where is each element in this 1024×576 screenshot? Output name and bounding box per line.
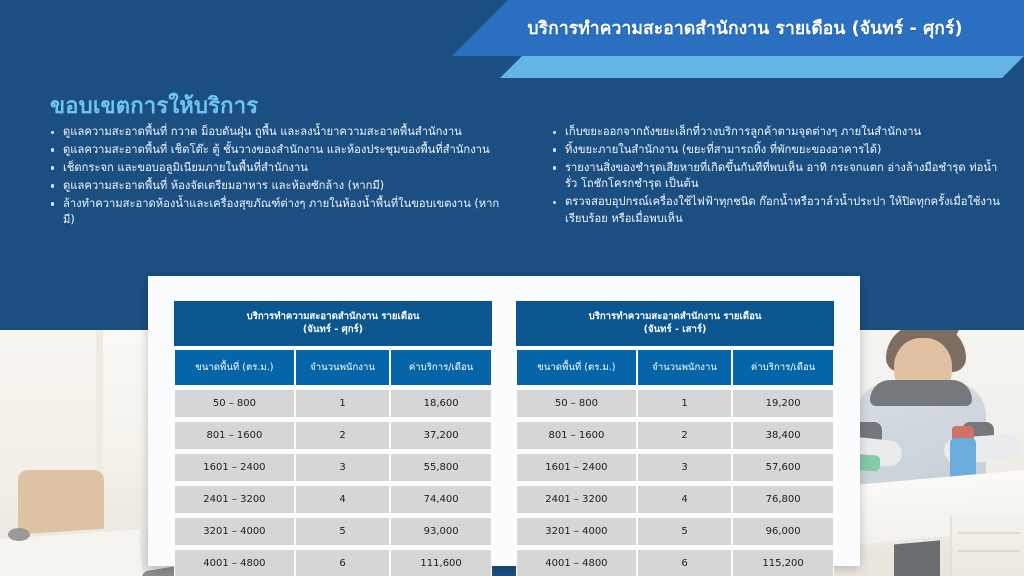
cell-area: 4001 – 4800: [174, 549, 295, 576]
banner-accent-bar: [500, 56, 1024, 78]
scope-list-left: ดูแลความสะอาดพื้นที่ กวาด ม็อบดันฝุ่น ถู…: [50, 124, 510, 230]
table-title-row: บริการทำความสะอาดสำนักงาน รายเดือน (จันท…: [174, 301, 492, 346]
table-row: 4001 – 4800 6 115,200: [516, 549, 834, 576]
cell-area: 1601 – 2400: [174, 453, 295, 482]
cell-price: 55,800: [390, 453, 492, 482]
table-title: บริการทำความสะอาดสำนักงาน รายเดือน (จันท…: [516, 301, 834, 346]
scope-list-left-items: ดูแลความสะอาดพื้นที่ กวาด ม็อบดันฝุ่น ถู…: [50, 124, 510, 229]
banner-shape: บริการทำความสะอาดสำนักงาน รายเดือน (จันท…: [452, 0, 1024, 56]
list-item: เช็ดกระจก และขอบอลูมิเนียมภายในพื้นที่สำ…: [50, 160, 510, 176]
slide-root: บริการทำความสะอาดสำนักงาน รายเดือน (จันท…: [0, 0, 1024, 576]
table-title-row: บริการทำความสะอาดสำนักงาน รายเดือน (จันท…: [516, 301, 834, 346]
table-title-line1: บริการทำความสะอาดสำนักงาน รายเดือน: [247, 311, 420, 322]
cell-area: 50 – 800: [516, 389, 637, 418]
page-title: ขอบเขตการให้บริการ: [50, 88, 258, 123]
column-header-price: ค่าบริการ/เดือน: [390, 349, 492, 386]
column-header-staff: จำนวนพนักงาน: [295, 349, 390, 386]
column-header-area: ขนาดพื้นที่ (ตร.ม.): [516, 349, 637, 386]
cell-staff: 5: [637, 517, 732, 546]
cell-price: 57,600: [732, 453, 834, 482]
cell-staff: 4: [295, 485, 390, 514]
cell-area: 3201 – 4000: [174, 517, 295, 546]
table-row: 801 – 1600 2 38,400: [516, 421, 834, 450]
table-row: 801 – 1600 2 37,200: [174, 421, 492, 450]
table-row: 50 – 800 1 18,600: [174, 389, 492, 418]
pricing-table-mon-sat: บริการทำความสะอาดสำนักงาน รายเดือน (จันท…: [516, 298, 834, 576]
cell-staff: 6: [637, 549, 732, 576]
pricing-table-mon-fri: บริการทำความสะอาดสำนักงาน รายเดือน (จันท…: [174, 298, 492, 576]
cell-price: 111,600: [390, 549, 492, 576]
column-header-staff: จำนวนพนักงาน: [637, 349, 732, 386]
cell-staff: 2: [295, 421, 390, 450]
list-item: ล้างทำความสะอาดห้องน้ำและเครื่องสุขภัณฑ์…: [50, 196, 510, 229]
list-item: ตรวจสอบอุปกรณ์เครื่องใช้ไฟฟ้าทุกชนิด ก๊อ…: [552, 194, 1002, 227]
cell-staff: 3: [637, 453, 732, 482]
table-row: 1601 – 2400 3 55,800: [174, 453, 492, 482]
scope-list-right: เก็บขยะออกจากถังขยะเล็กที่วางบริการลูกค้…: [552, 124, 1002, 229]
cell-staff: 6: [295, 549, 390, 576]
table-body: 50 – 800 1 18,600 801 – 1600 2 37,200 16…: [174, 389, 492, 576]
header-banner: บริการทำความสะอาดสำนักงาน รายเดือน (จันท…: [0, 0, 1024, 80]
table-row: 1601 – 2400 3 57,600: [516, 453, 834, 482]
scope-list-right-items: เก็บขยะออกจากถังขยะเล็กที่วางบริการลูกค้…: [552, 124, 1002, 227]
cell-area: 2401 – 3200: [516, 485, 637, 514]
list-item: ทิ้งขยะภายในสำนักงาน (ขยะที่สามารถทิ้ง ท…: [552, 142, 1002, 158]
cell-staff: 4: [637, 485, 732, 514]
list-item: ดูแลความสะอาดพื้นที่ ห้องจัดเตรียมอาหาร …: [50, 178, 510, 194]
list-item: รายงานสิ่งของชำรุดเสียหายที่เกิดขึ้นกันท…: [552, 160, 1002, 193]
cell-area: 801 – 1600: [516, 421, 637, 450]
cell-price: 38,400: [732, 421, 834, 450]
cell-staff: 1: [637, 389, 732, 418]
table-body: 50 – 800 1 19,200 801 – 1600 2 38,400 16…: [516, 389, 834, 576]
cell-price: 74,400: [390, 485, 492, 514]
cell-area: 801 – 1600: [174, 421, 295, 450]
cell-area: 3201 – 4000: [516, 517, 637, 546]
cell-area: 1601 – 2400: [516, 453, 637, 482]
column-header-price: ค่าบริการ/เดือน: [732, 349, 834, 386]
table-row: 50 – 800 1 19,200: [516, 389, 834, 418]
cell-staff: 1: [295, 389, 390, 418]
table-title-line2: (จันทร์ - ศุกร์): [303, 324, 363, 335]
cell-staff: 2: [637, 421, 732, 450]
cell-price: 93,000: [390, 517, 492, 546]
cell-price: 18,600: [390, 389, 492, 418]
list-item: ดูแลความสะอาดพื้นที่ กวาด ม็อบดันฝุ่น ถู…: [50, 124, 510, 140]
cell-area: 2401 – 3200: [174, 485, 295, 514]
cell-price: 76,800: [732, 485, 834, 514]
table-row: 2401 – 3200 4 76,800: [516, 485, 834, 514]
list-item: ดูแลความสะอาดพื้นที่ เช็ดโต๊ะ ตู้ ชั้นวา…: [50, 142, 510, 158]
cell-price: 37,200: [390, 421, 492, 450]
table-header-row: ขนาดพื้นที่ (ตร.ม.) จำนวนพนักงาน ค่าบริก…: [516, 349, 834, 386]
table-header-row: ขนาดพื้นที่ (ตร.ม.) จำนวนพนักงาน ค่าบริก…: [174, 349, 492, 386]
list-item: เก็บขยะออกจากถังขยะเล็กที่วางบริการลูกค้…: [552, 124, 1002, 140]
table-title: บริการทำความสะอาดสำนักงาน รายเดือน (จันท…: [174, 301, 492, 346]
cell-area: 50 – 800: [174, 389, 295, 418]
cell-area: 4001 – 4800: [516, 549, 637, 576]
table-title-line1: บริการทำความสะอาดสำนักงาน รายเดือน: [589, 311, 762, 322]
banner-title: บริการทำความสะอาดสำนักงาน รายเดือน (จันท…: [452, 0, 1024, 56]
table-row: 3201 – 4000 5 93,000: [174, 517, 492, 546]
table-row: 3201 – 4000 5 96,000: [516, 517, 834, 546]
table-title-line2: (จันทร์ - เสาร์): [644, 324, 707, 335]
column-header-area: ขนาดพื้นที่ (ตร.ม.): [174, 349, 295, 386]
cell-staff: 5: [295, 517, 390, 546]
cell-price: 115,200: [732, 549, 834, 576]
table-row: 4001 – 4800 6 111,600: [174, 549, 492, 576]
cell-price: 19,200: [732, 389, 834, 418]
cell-price: 96,000: [732, 517, 834, 546]
cell-staff: 3: [295, 453, 390, 482]
table-row: 2401 – 3200 4 74,400: [174, 485, 492, 514]
pricing-tables-card: บริการทำความสะอาดสำนักงาน รายเดือน (จันท…: [148, 276, 860, 566]
